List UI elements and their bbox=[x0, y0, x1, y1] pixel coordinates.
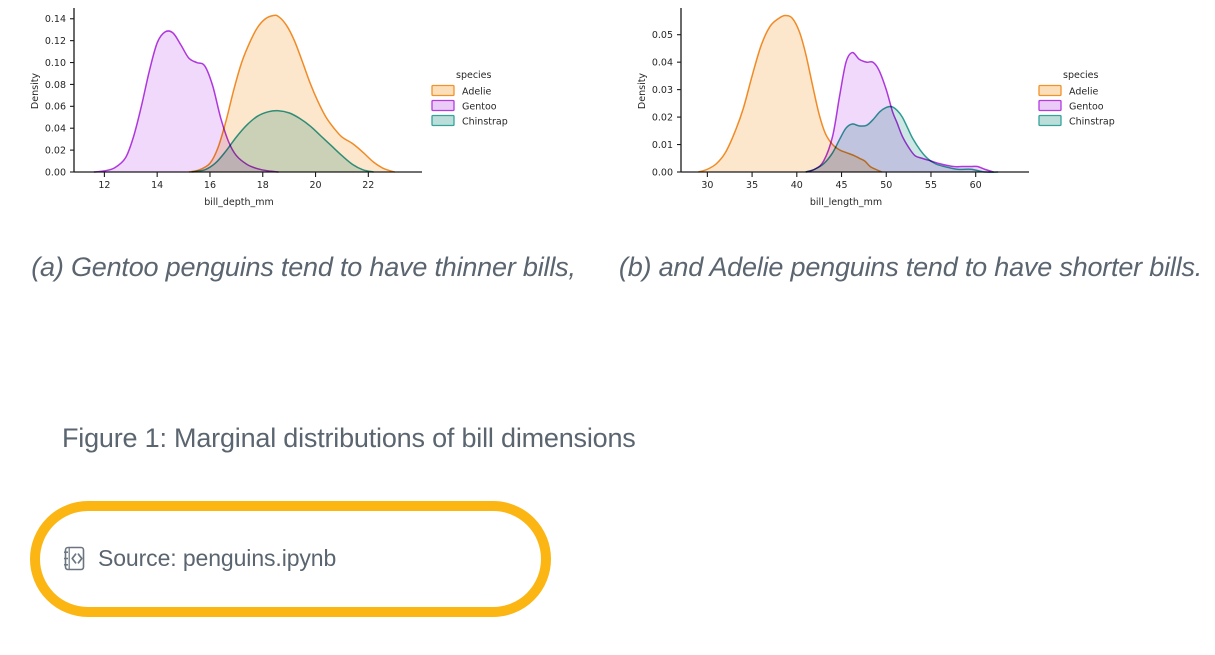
subfigure-a: 0.000.020.040.060.080.100.120.1412141618… bbox=[0, 0, 607, 360]
svg-text:22: 22 bbox=[362, 180, 374, 191]
svg-text:bill_length_mm: bill_length_mm bbox=[810, 197, 882, 208]
svg-text:60: 60 bbox=[970, 180, 982, 191]
source-label: Source: penguins.ipynb bbox=[98, 545, 336, 572]
svg-text:40: 40 bbox=[791, 180, 803, 191]
svg-text:0.02: 0.02 bbox=[45, 146, 66, 157]
svg-text:20: 20 bbox=[309, 180, 321, 191]
svg-text:Density: Density bbox=[30, 73, 41, 109]
figure-row: 0.000.020.040.060.080.100.120.1412141618… bbox=[0, 0, 1215, 360]
svg-text:12: 12 bbox=[98, 180, 110, 191]
subfigure-b: 0.000.010.020.030.040.0530354045505560bi… bbox=[607, 0, 1214, 360]
svg-text:0.10: 0.10 bbox=[45, 58, 66, 69]
kde-plot-bill-depth: 0.000.020.040.060.080.100.120.1412141618… bbox=[0, 0, 607, 215]
svg-text:45: 45 bbox=[835, 180, 847, 191]
kde-plot-bill-length: 0.000.010.020.030.040.0530354045505560bi… bbox=[607, 0, 1214, 215]
svg-text:18: 18 bbox=[257, 180, 269, 191]
svg-text:14: 14 bbox=[151, 180, 163, 191]
plot-bill-length: 0.000.010.020.030.040.0530354045505560bi… bbox=[607, 0, 1214, 215]
svg-text:0.02: 0.02 bbox=[652, 112, 673, 123]
plot-bill-depth: 0.000.020.040.060.080.100.120.1412141618… bbox=[0, 0, 607, 215]
svg-text:0.00: 0.00 bbox=[652, 167, 673, 178]
svg-text:0.00: 0.00 bbox=[45, 167, 66, 178]
svg-text:bill_depth_mm: bill_depth_mm bbox=[204, 197, 274, 208]
svg-text:35: 35 bbox=[746, 180, 758, 191]
svg-text:0.01: 0.01 bbox=[652, 140, 673, 151]
subfigure-b-caption: (b) and Adelie penguins tend to have sho… bbox=[607, 248, 1214, 287]
svg-text:Adelie: Adelie bbox=[462, 87, 491, 98]
svg-text:species: species bbox=[1063, 70, 1099, 81]
svg-text:0.06: 0.06 bbox=[45, 102, 66, 113]
svg-text:0.14: 0.14 bbox=[45, 14, 66, 25]
svg-text:Gentoo: Gentoo bbox=[1069, 102, 1104, 113]
subfigure-a-caption: (a) Gentoo penguins tend to have thinner… bbox=[0, 248, 607, 287]
svg-text:30: 30 bbox=[701, 180, 713, 191]
svg-text:0.12: 0.12 bbox=[45, 36, 66, 47]
svg-text:species: species bbox=[456, 70, 492, 81]
svg-text:0.04: 0.04 bbox=[45, 124, 66, 135]
notebook-code-icon bbox=[62, 545, 87, 572]
svg-text:Density: Density bbox=[637, 73, 648, 109]
svg-text:0.04: 0.04 bbox=[652, 58, 673, 69]
svg-text:0.05: 0.05 bbox=[652, 30, 673, 41]
svg-text:Chinstrap: Chinstrap bbox=[462, 117, 508, 128]
svg-text:55: 55 bbox=[925, 180, 937, 191]
svg-text:50: 50 bbox=[880, 180, 892, 191]
svg-text:0.08: 0.08 bbox=[45, 80, 66, 91]
figure-title: Figure 1: Marginal distributions of bill… bbox=[62, 423, 636, 454]
svg-text:Gentoo: Gentoo bbox=[462, 102, 497, 113]
source-link[interactable]: Source: penguins.ipynb bbox=[62, 545, 336, 572]
svg-text:0.03: 0.03 bbox=[652, 85, 673, 96]
svg-text:16: 16 bbox=[204, 180, 216, 191]
svg-text:Chinstrap: Chinstrap bbox=[1069, 117, 1115, 128]
svg-text:Adelie: Adelie bbox=[1069, 87, 1098, 98]
